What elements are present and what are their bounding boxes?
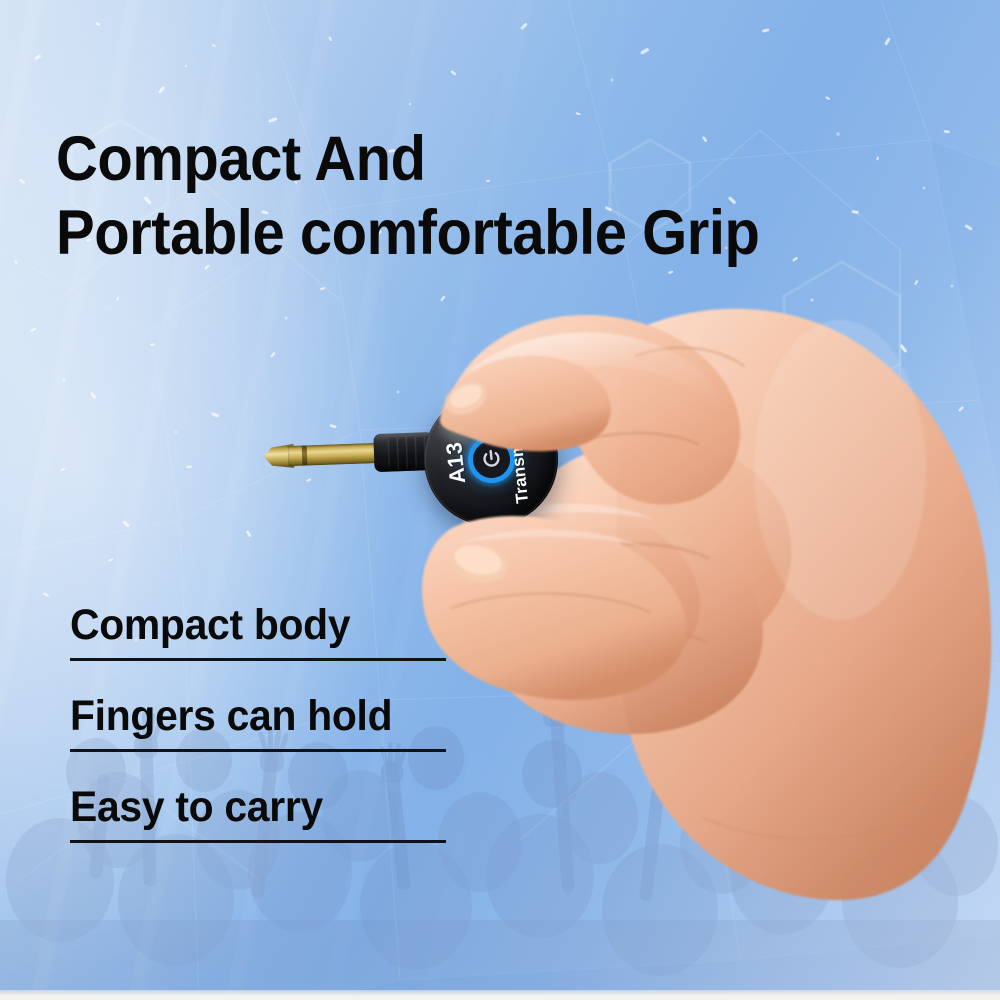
feature-item-fingers-can-hold: Fingers can hold bbox=[70, 691, 450, 782]
power-icon bbox=[478, 446, 503, 471]
bottom-strip bbox=[0, 990, 1000, 1000]
headline: Compact And Portable comfortable Grip bbox=[56, 122, 884, 270]
feature-label: Easy to carry bbox=[70, 782, 431, 832]
device-body bbox=[417, 385, 564, 532]
headline-line-2: Portable comfortable Grip bbox=[56, 196, 884, 270]
feature-list: Compact body Fingers can hold Easy to ca… bbox=[70, 600, 450, 873]
jack-tip bbox=[264, 444, 295, 469]
feature-label: Compact body bbox=[70, 600, 431, 650]
jack-ribs bbox=[387, 436, 432, 470]
jack-shaft bbox=[288, 442, 411, 466]
power-button[interactable] bbox=[465, 433, 517, 485]
quarter-inch-jack-plug bbox=[257, 431, 438, 477]
device-role-label: Transmitter bbox=[504, 408, 534, 504]
product-marketing-poster: A13 Transmitter bbox=[0, 0, 1000, 1000]
headline-line-1: Compact And bbox=[56, 122, 884, 196]
feature-rule bbox=[70, 840, 446, 843]
device-gloss bbox=[437, 397, 524, 451]
feature-rule bbox=[70, 749, 446, 752]
device-model-label: A13 bbox=[441, 440, 471, 484]
device-rim bbox=[418, 386, 563, 531]
jack-collar bbox=[373, 432, 438, 472]
feature-item-compact-body: Compact body bbox=[70, 600, 450, 691]
wireless-transmitter-device: A13 Transmitter bbox=[417, 385, 564, 532]
feature-item-easy-to-carry: Easy to carry bbox=[70, 782, 450, 873]
feature-label: Fingers can hold bbox=[70, 691, 431, 741]
feature-rule bbox=[70, 658, 446, 661]
jack-ring bbox=[302, 445, 308, 465]
